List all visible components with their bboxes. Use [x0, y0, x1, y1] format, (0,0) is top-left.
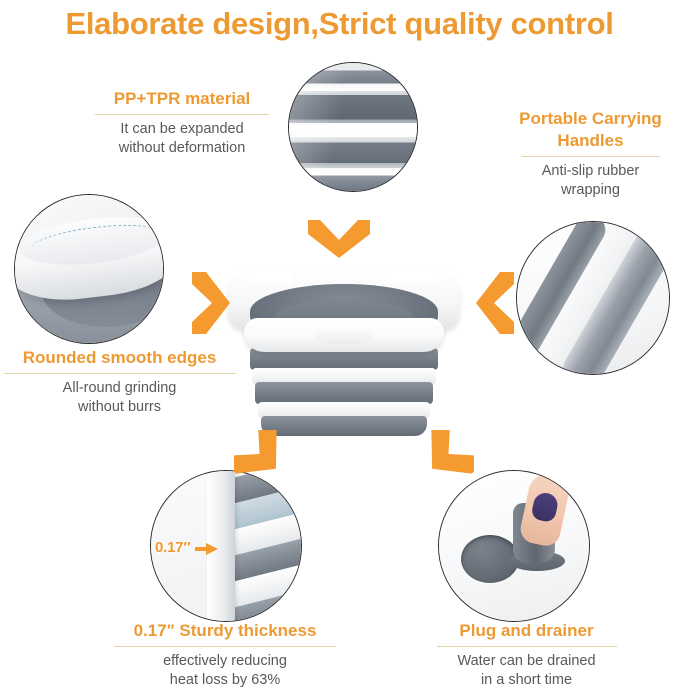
feature-heading-thickness: 0.17" Sturdy thickness [98, 620, 352, 642]
feature-text-thickness: 0.17" Sturdy thickness effectively reduc… [98, 620, 352, 690]
edge-backdrop [15, 195, 163, 343]
feature-sub-edges-line1: All-round grinding [0, 379, 241, 398]
product-image-collapsible-basin [228, 262, 460, 442]
feature-text-material: PP+TPR material It can be expanded witho… [76, 88, 288, 158]
feature-heading-handles-line1: Portable Carrying [502, 108, 679, 130]
feature-sub-material-line1: It can be expanded [76, 120, 288, 139]
feature-image-handles [516, 221, 670, 375]
feature-heading-handles-line2: Handles [502, 130, 679, 152]
thickness-backdrop: 0.17″ [151, 471, 301, 621]
feature-heading-edges: Rounded smooth edges [0, 347, 241, 369]
feature-text-handles: Portable Carrying Handles Anti-slip rubb… [502, 108, 679, 200]
feature-image-material [288, 62, 418, 192]
basin-handle-right [390, 268, 434, 284]
feature-image-drainer [438, 470, 590, 622]
feature-sub-handles-line2: wrapping [502, 181, 679, 200]
feature-image-edges [14, 194, 164, 344]
feature-heading-material: PP+TPR material [76, 88, 288, 110]
feature-sub-drainer-line2: in a short time [404, 671, 649, 690]
basin-handle-left [248, 268, 292, 284]
feature-sub-thickness-line1: effectively reducing [98, 652, 352, 671]
thickness-callout-label: 0.17″ [155, 539, 190, 556]
feature-heading-drainer: Plug and drainer [404, 620, 649, 642]
feature-divider-thickness [114, 646, 336, 647]
feature-sub-drainer-line1: Water can be drained [404, 652, 649, 671]
page-title: Elaborate design,Strict quality control [0, 2, 679, 46]
thickness-arrow-icon [206, 543, 218, 555]
feature-text-drainer: Plug and drainer Water can be drained in… [404, 620, 649, 690]
material-sheen [289, 63, 417, 191]
feature-text-edges: Rounded smooth edges All-round grinding … [0, 347, 241, 417]
feature-sub-thickness-line2: heat loss by 63% [98, 671, 352, 690]
basin-band-3 [255, 382, 433, 404]
handle-backdrop [517, 222, 669, 374]
feature-divider-material [95, 114, 269, 115]
feature-image-thickness: 0.17″ [150, 470, 302, 622]
feature-sub-edges-line2: without burrs [0, 398, 241, 417]
feature-sub-handles-line1: Anti-slip rubber [502, 162, 679, 181]
feature-sub-material-line2: without deformation [76, 139, 288, 158]
basin-front-lip-dip [314, 326, 374, 344]
drainer-backdrop [439, 471, 589, 621]
feature-divider-handles [522, 156, 660, 157]
feature-divider-edges [4, 373, 236, 374]
feature-divider-drainer [437, 646, 617, 647]
